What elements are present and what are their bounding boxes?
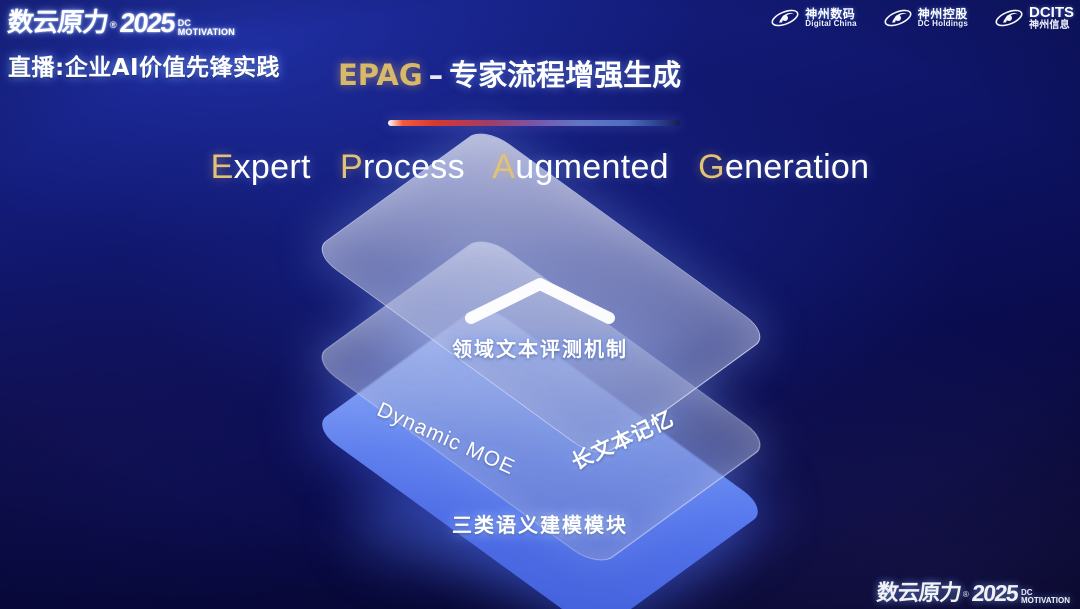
initial-e: E (211, 148, 234, 186)
watermark-motivation-text: MOTIVATION (1021, 597, 1070, 605)
watermark-motivation: DC MOTIVATION (1021, 589, 1070, 605)
swirl-logo-icon (883, 5, 913, 31)
title-acronym: EPAG (338, 58, 423, 92)
initial-g: G (698, 148, 725, 186)
brand-digital-china-en: Digital China (805, 20, 857, 28)
event-logo: 数云原力 ® 2025 DC MOTIVATION (8, 2, 235, 39)
live-subtitle: 直播:企业AI价值先锋实践 (8, 48, 280, 82)
space-1 (320, 148, 330, 186)
brand-logo-group: 神州数码 Digital China 神州控股 DC Holdings (770, 5, 1074, 31)
footer-watermark-logo: 数云原力 ® 2025 DC MOTIVATION (877, 575, 1070, 607)
word-expert: Expert (211, 148, 311, 186)
word-expert-rest: xpert (234, 148, 311, 186)
word-augmented-rest: ugmented (515, 148, 669, 186)
word-augmented: Augmented (492, 148, 669, 186)
event-logo-motivation: DC MOTIVATION (178, 19, 235, 37)
chevron-up-icon (463, 274, 617, 326)
layer-label-bottom: 三类语义建模模块 (0, 509, 1080, 538)
watermark-cn: 数云原力 (875, 575, 962, 607)
registered-mark-icon: ® (110, 20, 117, 30)
brand-dcits-cn: 神州信息 (1029, 21, 1074, 32)
brand-dcits-text: DCITS 神州信息 (1029, 5, 1074, 31)
initial-p: P (340, 148, 363, 186)
title-chinese: 专家流程增强生成 (449, 58, 681, 92)
layer-label-top: 领域文本评测机制 (0, 333, 1080, 362)
brand-dc-holdings-text: 神州控股 DC Holdings (918, 8, 968, 29)
title-dash: – (429, 58, 444, 92)
word-process: Process (340, 148, 465, 186)
event-logo-cn: 数云原力 (6, 2, 110, 39)
brand-dc-holdings-en: DC Holdings (918, 20, 968, 28)
space-2 (475, 148, 485, 186)
brand-digital-china-text: 神州数码 Digital China (805, 8, 857, 29)
brand-dcits-en: DCITS (1029, 5, 1074, 21)
title-english-expansion: Expert Process Augmented Generation (0, 148, 1080, 187)
brand-dc-holdings: 神州控股 DC Holdings (883, 5, 968, 31)
event-logo-year: 2025 (118, 8, 175, 39)
initial-a: A (492, 148, 515, 186)
slide-title: EPAG–专家流程增强生成 (338, 52, 681, 94)
watermark-year: 2025 (970, 580, 1018, 607)
event-logo-motivation-text: MOTIVATION (178, 28, 235, 37)
watermark-registered-icon: ® (963, 590, 969, 599)
brand-dcits: DCITS 神州信息 (994, 5, 1074, 31)
word-process-rest: rocess (363, 148, 465, 186)
word-generation: Generation (698, 148, 869, 186)
gradient-divider (388, 120, 680, 126)
swirl-logo-icon (770, 5, 800, 31)
word-generation-rest: eneration (725, 148, 869, 186)
presentation-slide: 数云原力 ® 2025 DC MOTIVATION 直播:企业AI价值先锋实践 … (0, 0, 1080, 609)
brand-digital-china: 神州数码 Digital China (770, 5, 857, 31)
space-3 (679, 148, 689, 186)
swirl-logo-icon (994, 5, 1024, 31)
